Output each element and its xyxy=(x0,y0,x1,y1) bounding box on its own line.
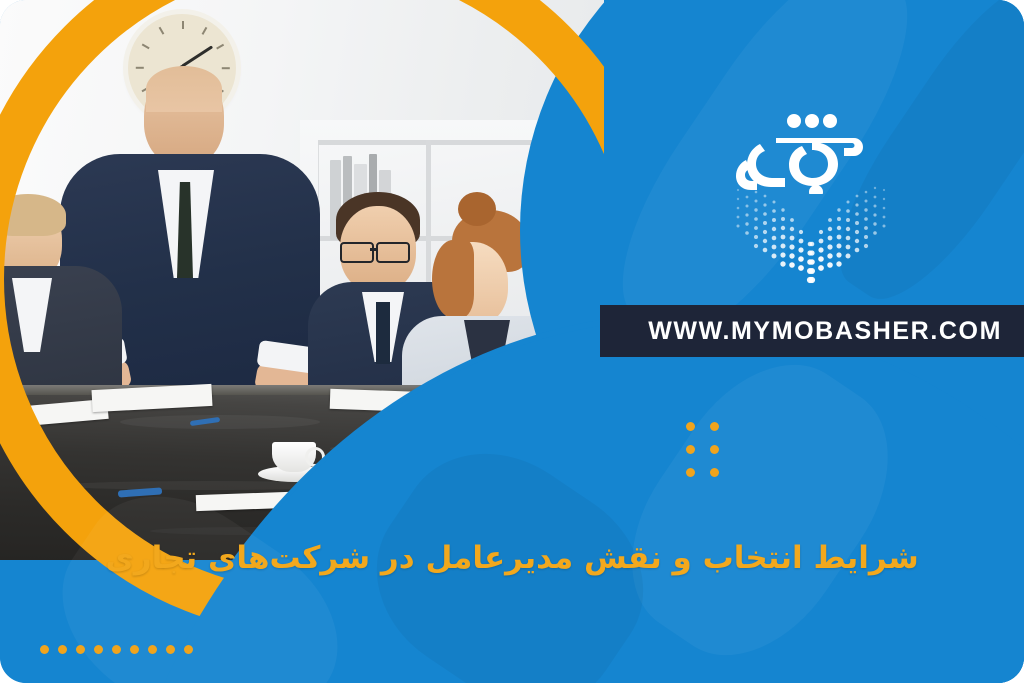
orange-dot-grid xyxy=(686,422,720,482)
website-url-text: WWW.MYMOBASHER.COM xyxy=(648,317,1002,346)
website-url-bar[interactable]: WWW.MYMOBASHER.COM xyxy=(600,305,1024,357)
halftone-v-icon xyxy=(732,182,890,288)
page-title: شرایط انتخاب و نقش مدیرعامل در شرکت‌های … xyxy=(0,540,1024,576)
orange-dot-row xyxy=(40,645,190,655)
promo-banner: WWW.MYMOBASHER.COM شرایط انتخاب و نقش مد… xyxy=(0,0,1024,683)
brand-logo xyxy=(716,108,906,288)
